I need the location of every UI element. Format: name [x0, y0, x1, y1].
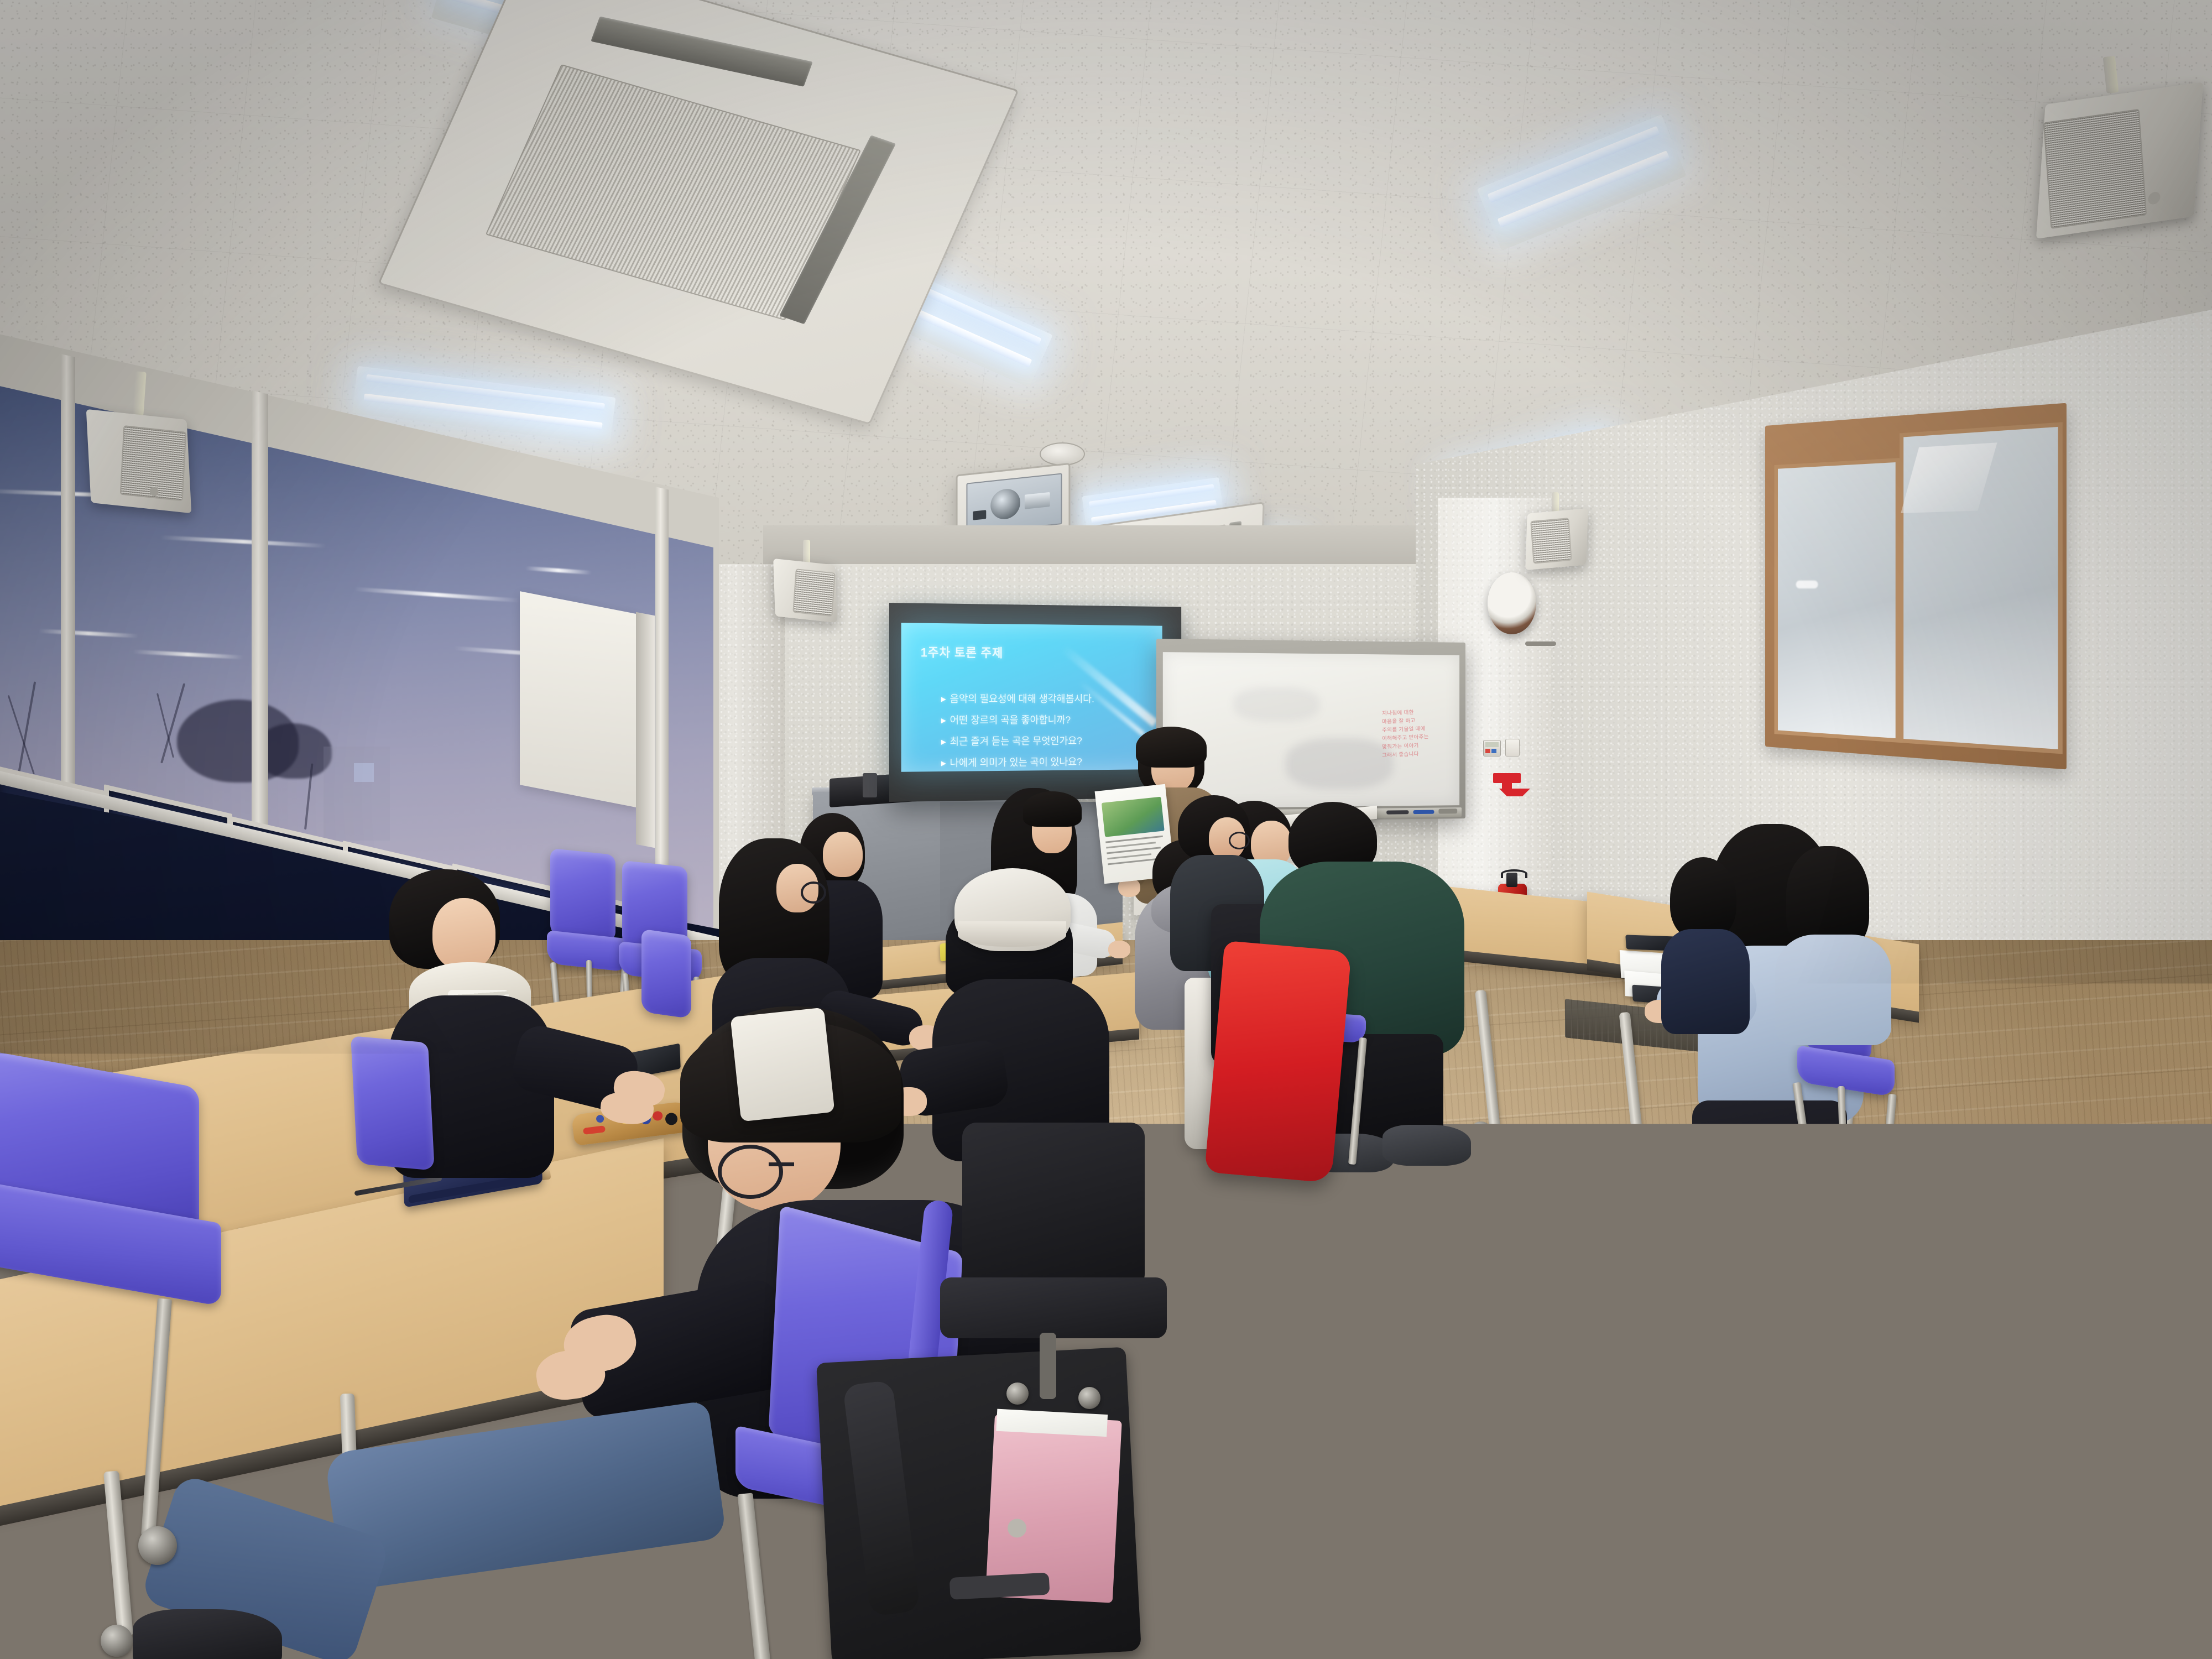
- slide-content: 1주차 토론 주제 음악의 필요성에 대해 생각해봅시다. 어떤 장르의 곡을 …: [901, 623, 1162, 772]
- fire-extinguisher-sign: [1493, 773, 1521, 796]
- slide-title: 1주차 토론 주제: [921, 643, 1003, 661]
- classroom-scene: 1주차 토론 주제 음악의 필요성에 대해 생각해봅시다. 어떤 장르의 곡을 …: [0, 0, 2212, 1659]
- screen-roller: [636, 612, 655, 848]
- red-jacket-draped: [1204, 941, 1352, 1183]
- roller-blind[interactable]: [520, 591, 639, 808]
- eyeglasses: [718, 1145, 783, 1199]
- thermostat-panel[interactable]: [1483, 740, 1501, 757]
- window-mullion-1: [61, 354, 75, 855]
- whiteboard-notes: 지나침에 대한 마음을 잘 하고 주의를 기울일 때에 이해해주고 받아주는 맞…: [1382, 708, 1451, 759]
- table-caster: [1615, 1138, 1637, 1160]
- eraser[interactable]: [1438, 808, 1457, 813]
- light-switch[interactable]: [1505, 739, 1520, 757]
- wall-hook: [1525, 641, 1556, 646]
- slide-bullet-list: 음악의 필요성에 대해 생각해봅시다. 어떤 장르의 곡을 좋아합니까? 최근 …: [920, 691, 1152, 772]
- wall-clock: [1488, 572, 1536, 634]
- table-caster: [101, 1625, 133, 1657]
- whiteboard-surface: 지나침에 대한 마음을 잘 하고 주의를 기울일 때에 이해해주고 받아주는 맞…: [1163, 652, 1459, 808]
- marker-black[interactable]: [1386, 810, 1408, 815]
- ceiling-soffit: [763, 525, 1449, 564]
- table-caster: [1470, 1121, 1492, 1144]
- projection-screen: 1주차 토론 주제 음악의 필요성에 대해 생각해봅시다. 어떤 장르의 곡을 …: [889, 603, 1181, 802]
- slide-bullet-4: 나에게 의미가 있는 곡이 있나요?: [941, 754, 1152, 770]
- office-chair-rolling[interactable]: [940, 1123, 1172, 1399]
- monitor-arm: [863, 773, 877, 797]
- marker-blue[interactable]: [1413, 810, 1434, 814]
- smoke-detector-icon: [1040, 442, 1085, 466]
- interior-window-pane-left: [1775, 458, 1900, 743]
- slide-bullet-3: 최근 즐겨 듣는 곡은 무엇인가요?: [941, 733, 1152, 749]
- shoe: [133, 1609, 282, 1659]
- backpack-floor-right[interactable]: [1639, 1170, 1823, 1285]
- chair-caster: [138, 1526, 177, 1565]
- interior-window: [1765, 403, 2067, 770]
- white-bag-floor[interactable]: [731, 1008, 835, 1122]
